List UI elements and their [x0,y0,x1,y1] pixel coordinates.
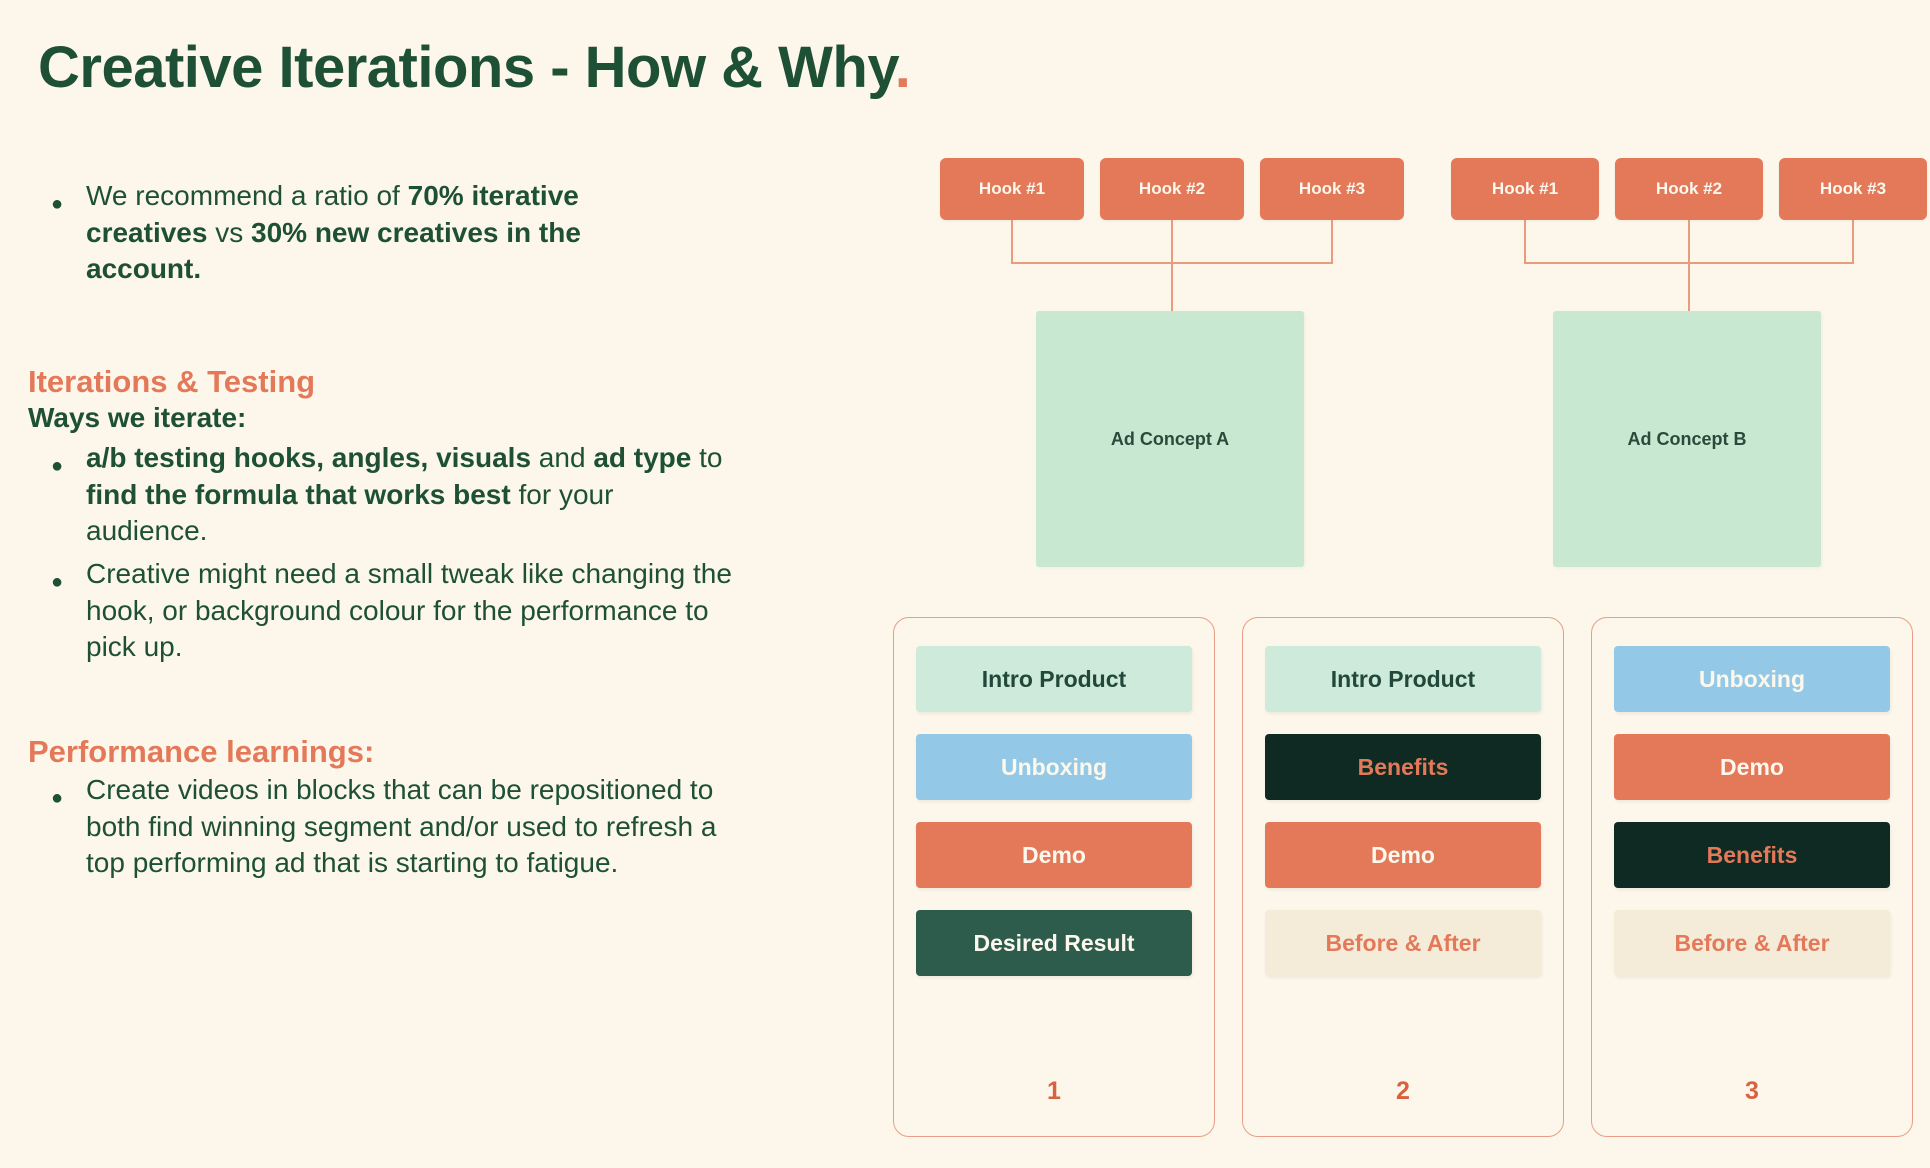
storyboard-card-3[interactable]: Unboxing Demo Benefits Before & After 3 [1591,617,1913,1137]
spacer [28,672,828,698]
list-item: Creative might need a small tweak like c… [28,556,828,666]
bullet-seg-bold: find the formula that works best [86,479,511,510]
bullet-text-ratio: We recommend a ratio of 70% iterative cr… [86,178,666,288]
connector-line-b-right [1852,220,1854,264]
bullet-text-small-tweak: Creative might need a small tweak like c… [86,556,736,666]
bullet-seg-bold: ad type [593,442,691,473]
storyboard-card-number-2: 2 [1265,1077,1541,1106]
connector-line-b-middle [1688,220,1690,264]
connector-line-a-right [1331,220,1333,264]
hook-box-a2[interactable]: Hook #2 [1100,158,1244,220]
scene-block-2-3[interactable]: Demo [1265,822,1541,888]
ad-concept-box-a[interactable]: Ad Concept A [1036,311,1304,567]
page-title: Creative Iterations - How & Why. [38,34,910,101]
storyboard-card-list: Intro Product Unboxing Demo Desired Resu… [893,617,1913,1137]
hook-group-a: Hook #1 Hook #2 Hook #3 Ad Concept A [920,0,1390,600]
connector-line-a-left [1011,220,1013,264]
scene-block-2-1[interactable]: Intro Product [1265,646,1541,712]
scene-block-1-3[interactable]: Demo [916,822,1192,888]
section-heading-performance: Performance learnings: [28,734,828,770]
bullet-dot-icon [28,440,86,476]
scene-block-1-1[interactable]: Intro Product [916,646,1192,712]
connector-line-b-left [1524,220,1526,264]
hook-box-b3[interactable]: Hook #3 [1779,158,1927,220]
page-title-text: Creative Iterations - How & Why [38,35,895,100]
scene-block-3-2[interactable]: Demo [1614,734,1890,800]
bullet-text-video-blocks: Create videos in blocks that can be repo… [86,772,736,882]
hook-box-a1[interactable]: Hook #1 [940,158,1084,220]
storyboard-card-2[interactable]: Intro Product Benefits Demo Before & Aft… [1242,617,1564,1137]
hook-box-b2[interactable]: Hook #2 [1615,158,1763,220]
list-item: a/b testing hooks, angles, visuals and a… [28,440,828,550]
storyboard-card-number-3: 3 [1614,1077,1890,1106]
section-heading-iterations: Iterations & Testing [28,364,828,400]
bullet-seg: vs [207,217,251,248]
scene-block-2-2[interactable]: Benefits [1265,734,1541,800]
storyboard-card-number-1: 1 [916,1077,1192,1106]
scene-block-3-4[interactable]: Before & After [1614,910,1890,976]
scene-block-3-1[interactable]: Unboxing [1614,646,1890,712]
left-content-column: We recommend a ratio of 70% iterative cr… [28,178,828,888]
list-item: Create videos in blocks that can be repo… [28,772,828,882]
slide-root: Creative Iterations - How & Why. We reco… [0,0,1930,1168]
bullet-seg-bold: a/b testing hooks, angles, visuals [86,442,531,473]
bullet-dot-icon [28,178,86,214]
connector-line-a-down [1171,262,1173,312]
connector-line-a-middle [1171,220,1173,264]
subheading-ways-we-iterate: Ways we iterate: [28,402,828,434]
hook-box-a3[interactable]: Hook #3 [1260,158,1404,220]
bullet-text-ab-testing: a/b testing hooks, angles, visuals and a… [86,440,736,550]
hook-box-b1[interactable]: Hook #1 [1451,158,1599,220]
scene-block-1-4[interactable]: Desired Result [916,910,1192,976]
ad-concept-box-b[interactable]: Ad Concept B [1553,311,1821,567]
spacer [28,294,828,328]
hook-group-b: Hook #1 Hook #2 Hook #3 Ad Concept B [1445,0,1930,600]
storyboard-card-1[interactable]: Intro Product Unboxing Demo Desired Resu… [893,617,1215,1137]
list-item: We recommend a ratio of 70% iterative cr… [28,178,828,288]
connector-line-b-down [1688,262,1690,312]
bullet-dot-icon [28,556,86,592]
ad-concept-diagram: Hook #1 Hook #2 Hook #3 Ad Concept A Hoo… [900,0,1930,600]
scene-block-2-4[interactable]: Before & After [1265,910,1541,976]
bullet-seg: and [531,442,593,473]
scene-block-1-2[interactable]: Unboxing [916,734,1192,800]
bullet-seg: to [691,442,722,473]
bullet-seg: We recommend a ratio of [86,180,408,211]
bullet-dot-icon [28,772,86,808]
scene-block-3-3[interactable]: Benefits [1614,822,1890,888]
